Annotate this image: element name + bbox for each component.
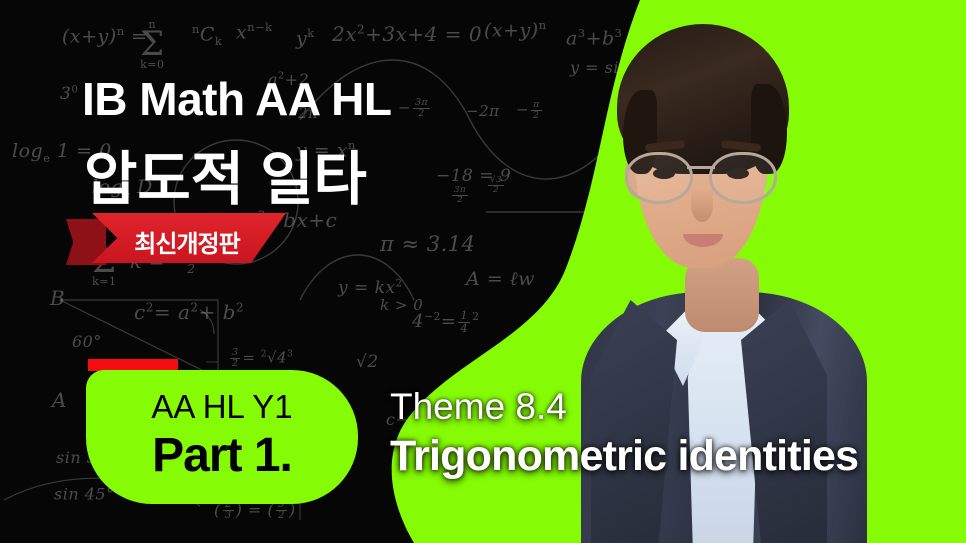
glasses-lens-left — [625, 152, 693, 204]
course-title: IB Math AA HL — [82, 72, 392, 126]
portrait-neck — [685, 258, 759, 332]
part-badge-part: Part 1. — [86, 428, 358, 483]
part-badge-course: AA HL Y1 — [86, 388, 358, 426]
revision-ribbon: 최신개정판 — [66, 213, 286, 267]
glasses-lens-right — [709, 152, 777, 204]
lesson-topic: Trigonometric identities — [390, 432, 858, 481]
lesson-theme: Theme 8.4 — [390, 386, 567, 428]
course-tagline: 압도적 일타 — [84, 132, 367, 216]
portrait-nose — [691, 188, 713, 222]
ribbon-label: 최신개정판 — [112, 224, 262, 259]
video-thumbnail: (x+y)n = nΣk=0 nCk xn−k yk 2x2+3x+4 = 0 … — [0, 0, 966, 543]
part-badge: AA HL Y1 Part 1. — [86, 370, 358, 504]
